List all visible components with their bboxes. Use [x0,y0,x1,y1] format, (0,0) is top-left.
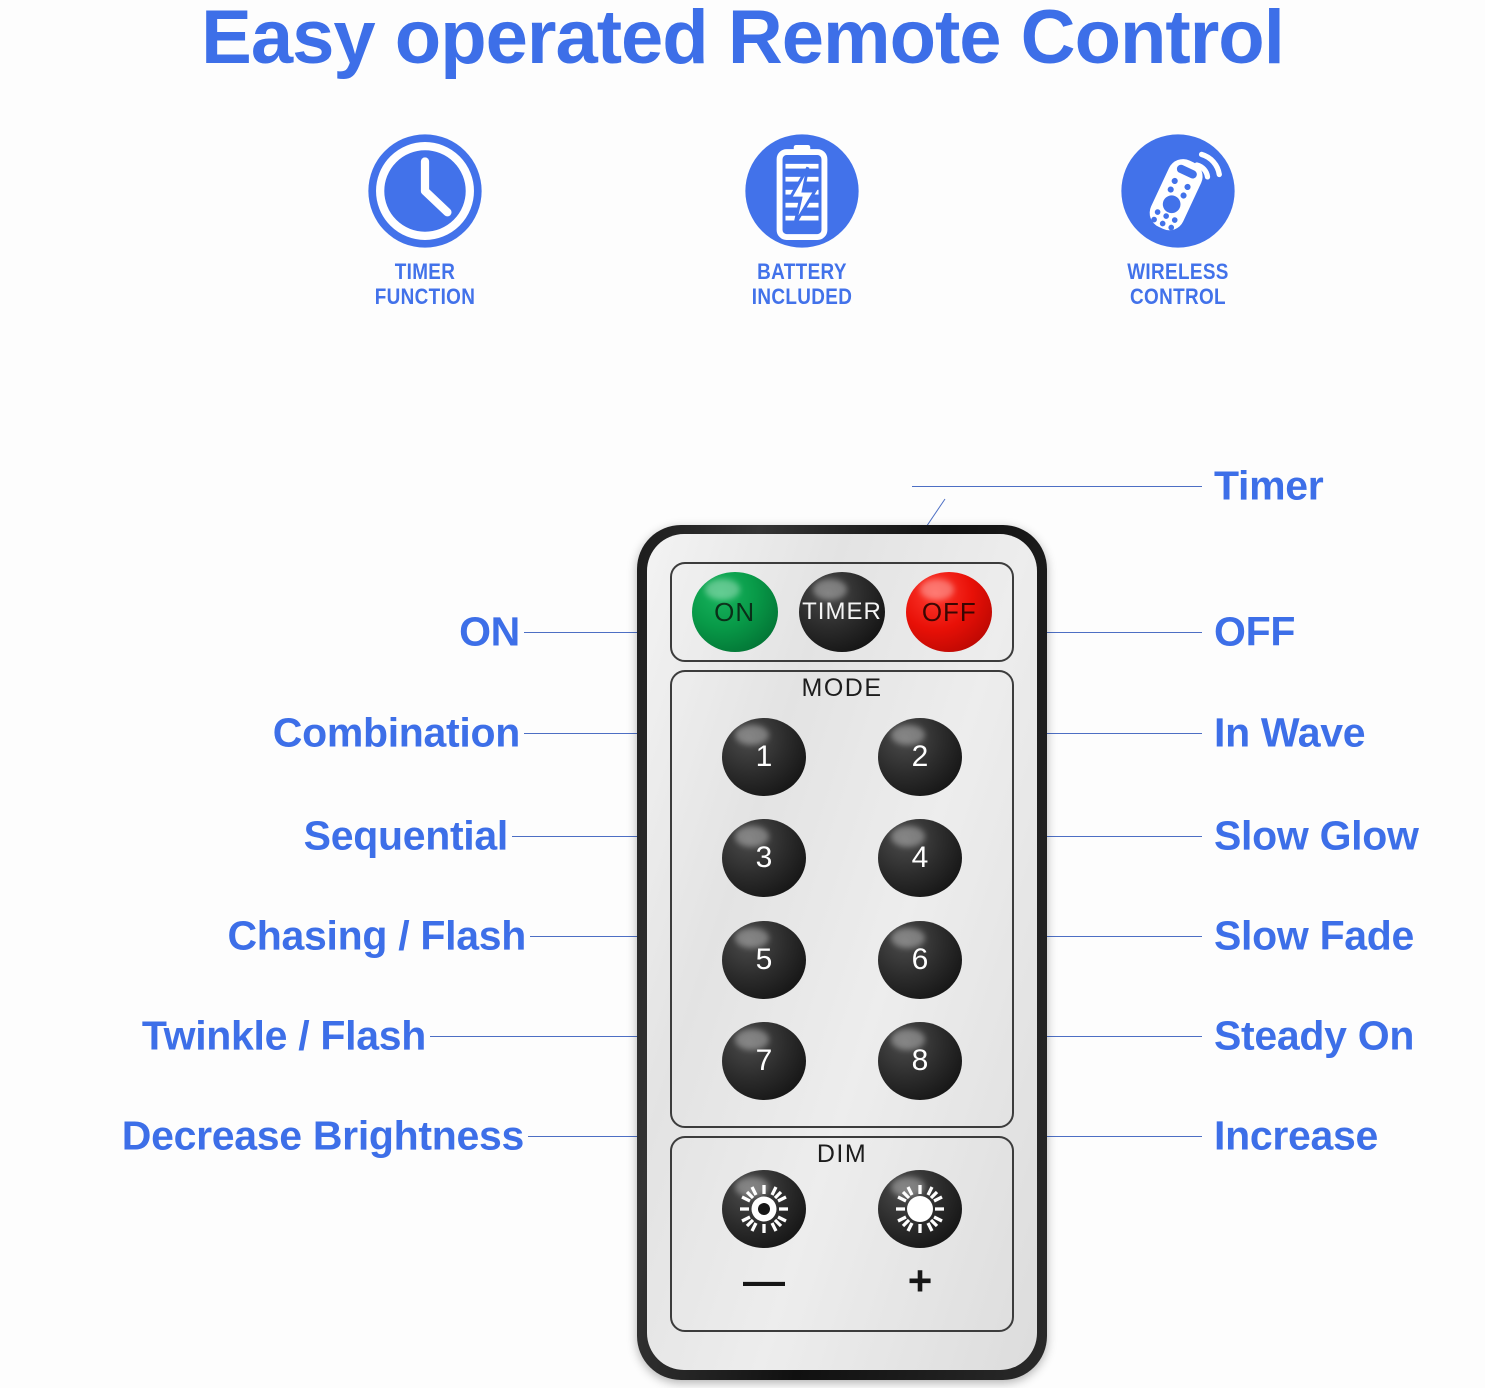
callout-steady-on: Steady On [1214,1013,1414,1060]
sun-hollow-icon [738,1183,790,1235]
leader-line-timer [912,486,1202,487]
battery-bolt-icon [743,130,861,252]
feature-timer-label: TIMER FUNCTION [326,260,524,309]
timer-button[interactable]: TIMER [799,572,885,652]
mode-button-2[interactable]: 2 [878,718,962,796]
remote-faceplate: ON TIMER OFF MODE 1 2 3 4 5 6 7 8 [647,534,1037,1370]
callout-chasing-flash: Chasing / Flash [228,913,527,960]
mode-button-6[interactable]: 6 [878,921,962,999]
mode-button-panel: MODE 1 2 3 4 5 6 7 8 [670,670,1014,1128]
feature-wireless-control: WIRELESS CONTROL [1063,130,1293,309]
remote-control-device: ON TIMER OFF MODE 1 2 3 4 5 6 7 8 [637,525,1047,1380]
feature-battery-included: BATTERY INCLUDED [687,130,917,309]
dim-increase-cell: + [878,1170,962,1302]
callout-increase: Increase [1214,1113,1378,1160]
mode-button-8[interactable]: 8 [878,1022,962,1100]
mode-button-1[interactable]: 1 [722,718,806,796]
sun-solid-icon [894,1183,946,1235]
callout-timer: Timer [1214,463,1323,510]
callout-in-wave: In Wave [1214,710,1365,757]
callout-slow-glow: Slow Glow [1214,813,1419,860]
mode-button-3[interactable]: 3 [722,819,806,897]
callout-slow-fade: Slow Fade [1214,913,1414,960]
mode-button-4[interactable]: 4 [878,819,962,897]
dim-button-row: — [686,1170,998,1322]
infographic-page: Easy operated Remote Control TIMER FUNCT… [0,0,1485,1388]
callout-decrease-brightness: Decrease Brightness [122,1113,524,1160]
dim-decrease-button[interactable] [722,1170,806,1248]
feature-wireless-label: WIRELESS CONTROL [1079,260,1277,309]
off-button[interactable]: OFF [906,572,992,652]
feature-battery-label: BATTERY INCLUDED [703,260,901,309]
dim-decrease-sign: — [743,1260,785,1302]
callout-sequential: Sequential [304,813,508,860]
clock-icon [366,130,484,252]
mode-button-5[interactable]: 5 [722,921,806,999]
mode-button-grid: 1 2 3 4 5 6 7 8 [686,706,998,1112]
page-title: Easy operated Remote Control [0,0,1485,81]
callout-on: ON [459,609,520,656]
power-button-panel: ON TIMER OFF [670,562,1014,662]
callout-twinkle-flash: Twinkle / Flash [142,1013,426,1060]
on-button[interactable]: ON [692,572,778,652]
dim-caption: DIM [672,1140,1012,1169]
callout-off: OFF [1214,609,1295,656]
remote-wireless-icon [1119,130,1237,252]
feature-timer-function: TIMER FUNCTION [310,130,540,309]
callout-combination: Combination [273,710,520,757]
mode-button-7[interactable]: 7 [722,1022,806,1100]
dim-button-panel: DIM [670,1136,1014,1332]
dim-increase-sign: + [908,1260,933,1302]
dim-increase-button[interactable] [878,1170,962,1248]
dim-decrease-cell: — [722,1170,806,1302]
mode-caption: MODE [672,674,1012,703]
